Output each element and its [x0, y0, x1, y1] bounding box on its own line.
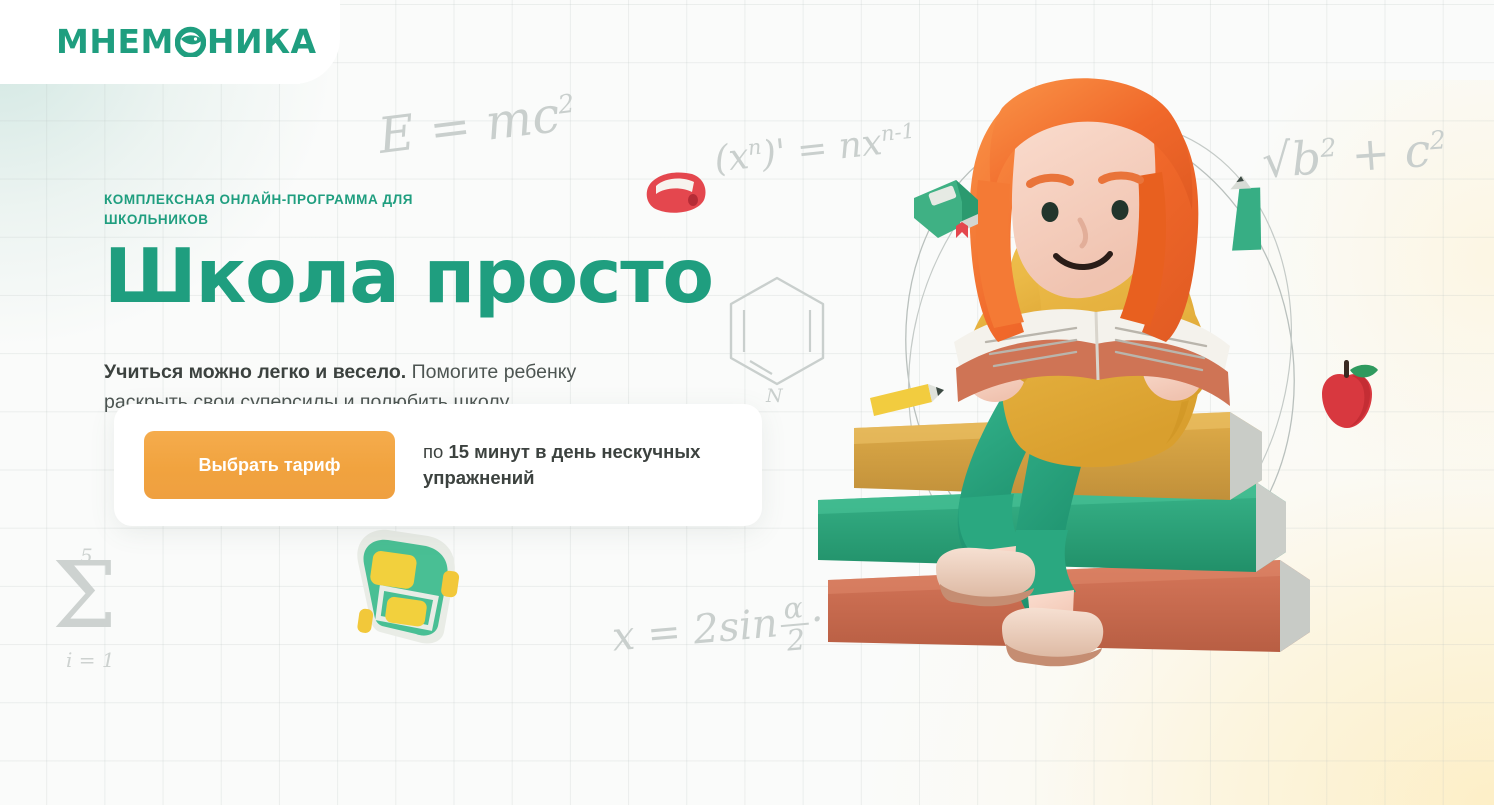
brand-logo[interactable]: МНЕМ НИКА — [56, 22, 317, 61]
logo-fish-o-icon — [175, 26, 206, 57]
cta-note-bold: 15 минут в день нескучных упражнений — [423, 441, 700, 488]
formula-summation: 5 Σ i = 1 — [52, 556, 117, 635]
hero-subtitle-bold: Учиться можно легко и весело. — [104, 361, 406, 383]
logo-text-before: МНЕМ — [56, 22, 174, 61]
cta-note: по 15 минут в день нескучных упражнений — [423, 439, 733, 492]
green-pencil-icon — [1222, 172, 1294, 262]
choose-plan-button[interactable]: Выбрать тариф — [144, 431, 395, 499]
page-title: Школа просто — [104, 239, 784, 314]
green-book-icon — [898, 168, 988, 252]
fraction: α2 — [778, 593, 811, 657]
green-backpack-icon — [344, 522, 474, 648]
hero-eyebrow: КОМПЛЕКСНАЯ ОНЛАЙН-ПРОГРАММА ДЛЯ ШКОЛЬНИ… — [104, 190, 434, 229]
cta-note-prefix: по — [423, 441, 448, 462]
cta-card: Выбрать тариф по 15 минут в день нескучн… — [114, 404, 762, 526]
logo-text-after: НИКА — [207, 22, 317, 61]
red-apple-icon — [1304, 352, 1390, 438]
landing-hero-page: E = mc2 (xn)' = nxn-1 √b2 + c2 x = 2sinα… — [0, 0, 1494, 805]
yellow-pencil-icon — [862, 368, 948, 440]
hero-section: КОМПЛЕКСНАЯ ОНЛАЙН-ПРОГРАММА ДЛЯ ШКОЛЬНИ… — [104, 190, 784, 417]
